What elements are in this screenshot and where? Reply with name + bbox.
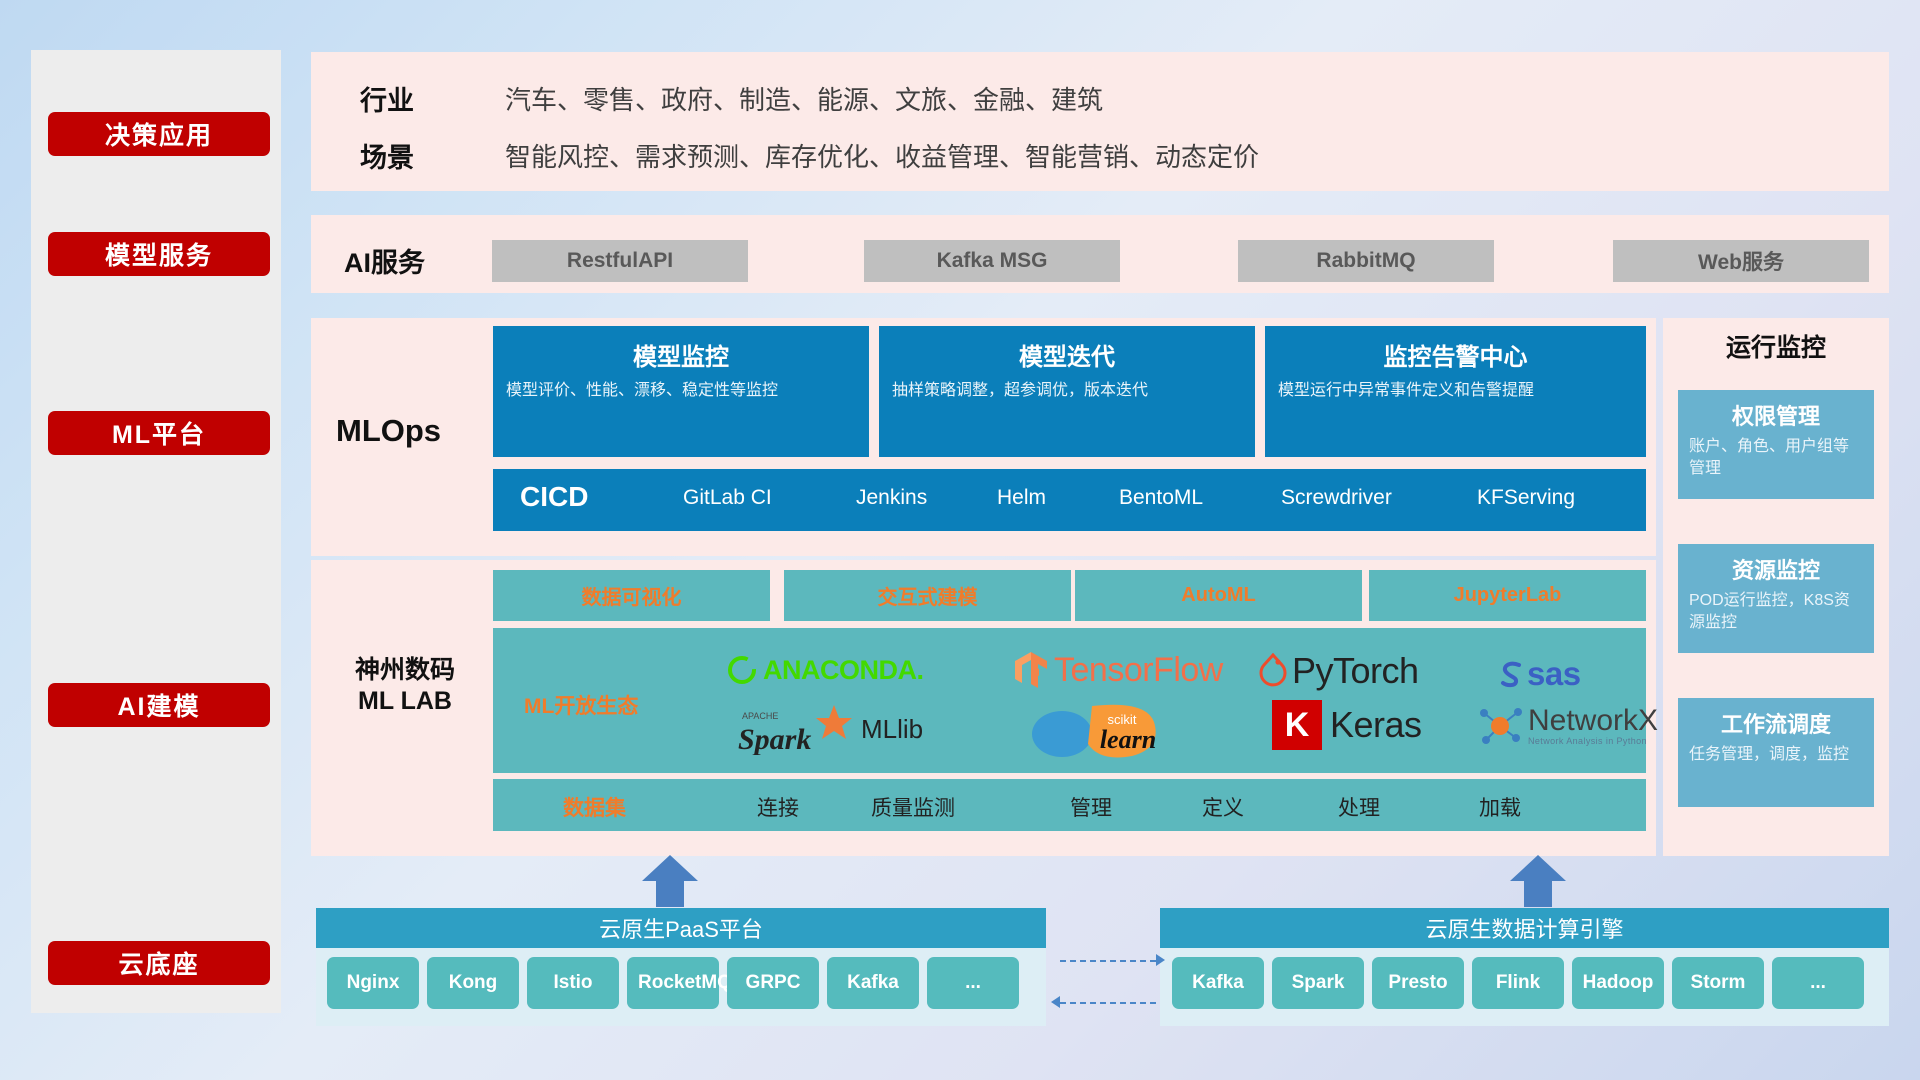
dashed-arrow-left-icon	[1051, 996, 1060, 1008]
cicd-item-gitlab-ci[interactable]: GitLab CI	[683, 487, 801, 509]
ml-lab-name: 神州数码 ML LAB	[325, 655, 485, 718]
networkx-logo-tagline: Network Analysis in Python	[1528, 736, 1658, 746]
dataset-item-connect[interactable]: 连接	[723, 792, 833, 822]
layer-chip-model-service[interactable]: 模型服务	[48, 232, 270, 276]
mllib-logo-text: MLlib	[861, 714, 923, 745]
pill-label: Kafka	[847, 973, 899, 993]
ml-lab-name-line1: 神州数码	[325, 655, 485, 686]
service-box-restfulapi[interactable]: RestfulAPI	[492, 240, 748, 282]
layer-chip-label: AI建模	[117, 687, 200, 723]
scenario-row-value: 智能风控、需求预测、库存优化、收益管理、智能营销、动态定价	[505, 137, 1259, 174]
data-engine-title: 云原生数据计算引擎	[1425, 912, 1623, 944]
dataset-item-loading[interactable]: 加载	[1445, 792, 1555, 822]
tool-box-label: 交互式建模	[878, 581, 978, 610]
pytorch-icon	[1258, 653, 1288, 689]
layer-chip-ml-platform[interactable]: ML平台	[48, 411, 270, 455]
pill-label: Storm	[1691, 973, 1746, 993]
service-box-rabbitmq[interactable]: RabbitMQ	[1238, 240, 1494, 282]
pill-label: ...	[1810, 973, 1826, 993]
tool-box-interactive-modeling[interactable]: 交互式建模	[784, 570, 1071, 621]
pill-label: Spark	[1292, 973, 1345, 993]
mlops-card-desc: 模型运行中异常事件定义和告警提醒	[1278, 380, 1633, 402]
tool-box-label: JupyterLab	[1454, 584, 1562, 607]
anaconda-logo-text: ANACONDA.	[763, 655, 924, 686]
paas-pill-istio[interactable]: Istio	[527, 957, 619, 1009]
paas-pill-kong[interactable]: Kong	[427, 957, 519, 1009]
monitor-card-desc: POD运行监控，K8S资源监控	[1689, 590, 1863, 633]
tensorflow-icon	[1013, 650, 1049, 690]
data-engine-title-bar: 云原生数据计算引擎	[1160, 908, 1889, 948]
service-box-label: RestfulAPI	[567, 249, 673, 273]
svg-text:APACHE: APACHE	[742, 711, 778, 721]
layer-chip-decision-application[interactable]: 决策应用	[48, 112, 270, 156]
paas-pill-kafka[interactable]: Kafka	[827, 957, 919, 1009]
layer-chip-cloud-foundation[interactable]: 云底座	[48, 941, 270, 985]
tool-box-jupyterlab[interactable]: JupyterLab	[1369, 570, 1646, 621]
pill-label: Kong	[449, 973, 498, 993]
dataset-item-quality-monitoring[interactable]: 质量监测	[858, 792, 968, 822]
monitor-card-title: 工作流调度	[1678, 707, 1874, 739]
ml-lab-name-line2: ML LAB	[325, 686, 485, 717]
sas-logo: sas	[1495, 655, 1581, 693]
data-engine-pill-more[interactable]: ...	[1772, 957, 1864, 1009]
pill-label: Istio	[553, 973, 592, 993]
layer-chip-label: ML平台	[112, 415, 206, 451]
sas-icon	[1495, 658, 1527, 690]
anaconda-icon	[725, 653, 759, 687]
data-engine-pill-spark[interactable]: Spark	[1272, 957, 1364, 1009]
pill-label: Nginx	[347, 973, 400, 993]
layer-chip-label: 模型服务	[105, 236, 213, 272]
paas-pill-more[interactable]: ...	[927, 957, 1019, 1009]
architecture-diagram: 决策应用 模型服务 ML平台 AI建模 云底座 行业 汽车、零售、政府、制造、能…	[0, 0, 1920, 1080]
data-engine-pill-storm[interactable]: Storm	[1672, 957, 1764, 1009]
data-engine-pill-hadoop[interactable]: Hadoop	[1572, 957, 1664, 1009]
layer-chip-label: 云底座	[118, 945, 199, 981]
dashed-arrow-right-icon	[1156, 954, 1165, 966]
up-arrow-data-engine-icon	[1508, 855, 1568, 907]
service-box-kafka-msg[interactable]: Kafka MSG	[864, 240, 1120, 282]
sas-logo-text: sas	[1527, 655, 1581, 693]
pill-label: Flink	[1496, 973, 1540, 993]
pytorch-logo: PyTorch	[1258, 650, 1419, 692]
mlops-card-desc: 抽样策略调整，超参调优，版本迭代	[892, 380, 1242, 402]
monitor-card-desc: 任务管理，调度，监控	[1689, 744, 1863, 766]
up-arrow-paas-icon	[640, 855, 700, 907]
pill-label: GRPC	[746, 973, 801, 993]
dashed-connector-left	[1060, 1002, 1156, 1004]
service-box-label: RabbitMQ	[1316, 249, 1415, 273]
layer-label-column	[31, 50, 281, 1013]
dataset-item-management[interactable]: 管理	[1036, 792, 1146, 822]
service-box-label: Kafka MSG	[937, 249, 1048, 273]
pill-label: Presto	[1388, 973, 1447, 993]
tensorflow-logo-text: TensorFlow	[1054, 651, 1223, 690]
cicd-item-screwdriver[interactable]: Screwdriver	[1281, 487, 1399, 509]
cicd-item-helm[interactable]: Helm	[997, 487, 1115, 509]
monitor-card-permission-management[interactable]: 权限管理 账户、角色、用户组等管理	[1678, 390, 1874, 499]
tool-box-data-visualization[interactable]: 数据可视化	[493, 570, 770, 621]
service-box-label: Web服务	[1698, 246, 1784, 276]
svg-text:Spark: Spark	[738, 723, 811, 755]
mlops-label: MLOps	[336, 413, 441, 449]
tensorflow-logo: TensorFlow	[1013, 650, 1223, 690]
paas-pill-rocketmq[interactable]: RocketMQ	[627, 957, 719, 1009]
pill-label: ...	[965, 973, 981, 993]
monitor-card-title: 权限管理	[1678, 399, 1874, 431]
spark-icon: APACHE Spark	[738, 703, 858, 755]
ml-ecosystem-label: ML开放生态	[524, 690, 638, 720]
pytorch-logo-text: PyTorch	[1292, 650, 1419, 692]
service-box-web-service[interactable]: Web服务	[1613, 240, 1869, 282]
mlops-card-desc: 模型评价、性能、漂移、稳定性等监控	[506, 380, 856, 402]
mlops-card-model-iteration[interactable]: 模型迭代 抽样策略调整，超参调优，版本迭代	[879, 326, 1255, 457]
mlops-card-title: 监控告警中心	[1265, 337, 1646, 372]
industry-row-label: 行业	[360, 79, 414, 118]
paas-title-bar: 云原生PaaS平台	[316, 908, 1046, 948]
pill-label: RocketMQ	[638, 973, 708, 993]
keras-icon: K	[1272, 700, 1322, 750]
tool-box-label: AutoML	[1181, 584, 1255, 607]
cicd-item-kfserving[interactable]: KFServing	[1477, 487, 1595, 509]
mlops-card-alert-center[interactable]: 监控告警中心 模型运行中异常事件定义和告警提醒	[1265, 326, 1646, 457]
mlops-card-title: 模型监控	[493, 337, 869, 372]
data-engine-pill-presto[interactable]: Presto	[1372, 957, 1464, 1009]
mlops-card-title: 模型迭代	[879, 337, 1255, 372]
tool-box-automl[interactable]: AutoML	[1075, 570, 1362, 621]
monitor-card-title: 资源监控	[1678, 553, 1874, 585]
pill-label: Hadoop	[1583, 973, 1654, 993]
networkx-icon	[1478, 704, 1524, 748]
networkx-logo-text: NetworkX	[1528, 706, 1658, 736]
paas-pill-nginx[interactable]: Nginx	[327, 957, 419, 1009]
layer-chip-ai-modeling[interactable]: AI建模	[48, 683, 270, 727]
runtime-monitor-title: 运行监控	[1663, 328, 1889, 364]
monitor-card-resource-monitoring[interactable]: 资源监控 POD运行监控，K8S资源监控	[1678, 544, 1874, 653]
monitor-card-workflow-scheduling[interactable]: 工作流调度 任务管理，调度，监控	[1678, 698, 1874, 807]
mlops-card-model-monitoring[interactable]: 模型监控 模型评价、性能、漂移、稳定性等监控	[493, 326, 869, 457]
svg-text:learn: learn	[1100, 725, 1156, 754]
keras-logo-text: Keras	[1330, 704, 1422, 746]
paas-pill-grpc[interactable]: GRPC	[727, 957, 819, 1009]
data-engine-pill-flink[interactable]: Flink	[1472, 957, 1564, 1009]
scikit-learn-logo: scikit learn	[1030, 702, 1196, 758]
cicd-item-bentoml[interactable]: BentoML	[1119, 487, 1237, 509]
cicd-item-jenkins[interactable]: Jenkins	[856, 487, 974, 509]
dataset-item-definition[interactable]: 定义	[1168, 792, 1278, 822]
industry-row-value: 汽车、零售、政府、制造、能源、文旅、金融、建筑	[505, 80, 1103, 117]
data-engine-pill-kafka[interactable]: Kafka	[1172, 957, 1264, 1009]
layer-chip-label: 决策应用	[105, 116, 213, 152]
dashed-connector-right	[1060, 960, 1156, 962]
scenario-row-label: 场景	[360, 136, 414, 175]
cicd-title: CICD	[520, 481, 588, 513]
networkx-logo: NetworkX Network Analysis in Python	[1478, 704, 1658, 748]
pill-label: Kafka	[1192, 973, 1244, 993]
tool-box-label: 数据可视化	[582, 581, 682, 610]
spark-mllib-logo: APACHE Spark MLlib	[738, 703, 923, 755]
dataset-item-processing[interactable]: 处理	[1304, 792, 1414, 822]
keras-logo: K Keras	[1272, 700, 1422, 750]
scikit-learn-icon: scikit learn	[1030, 702, 1196, 758]
anaconda-logo: ANACONDA.	[725, 653, 924, 687]
dataset-label: 数据集	[563, 792, 626, 822]
ai-service-label: AI服务	[344, 241, 425, 280]
paas-title: 云原生PaaS平台	[599, 912, 763, 944]
monitor-card-desc: 账户、角色、用户组等管理	[1689, 436, 1863, 479]
